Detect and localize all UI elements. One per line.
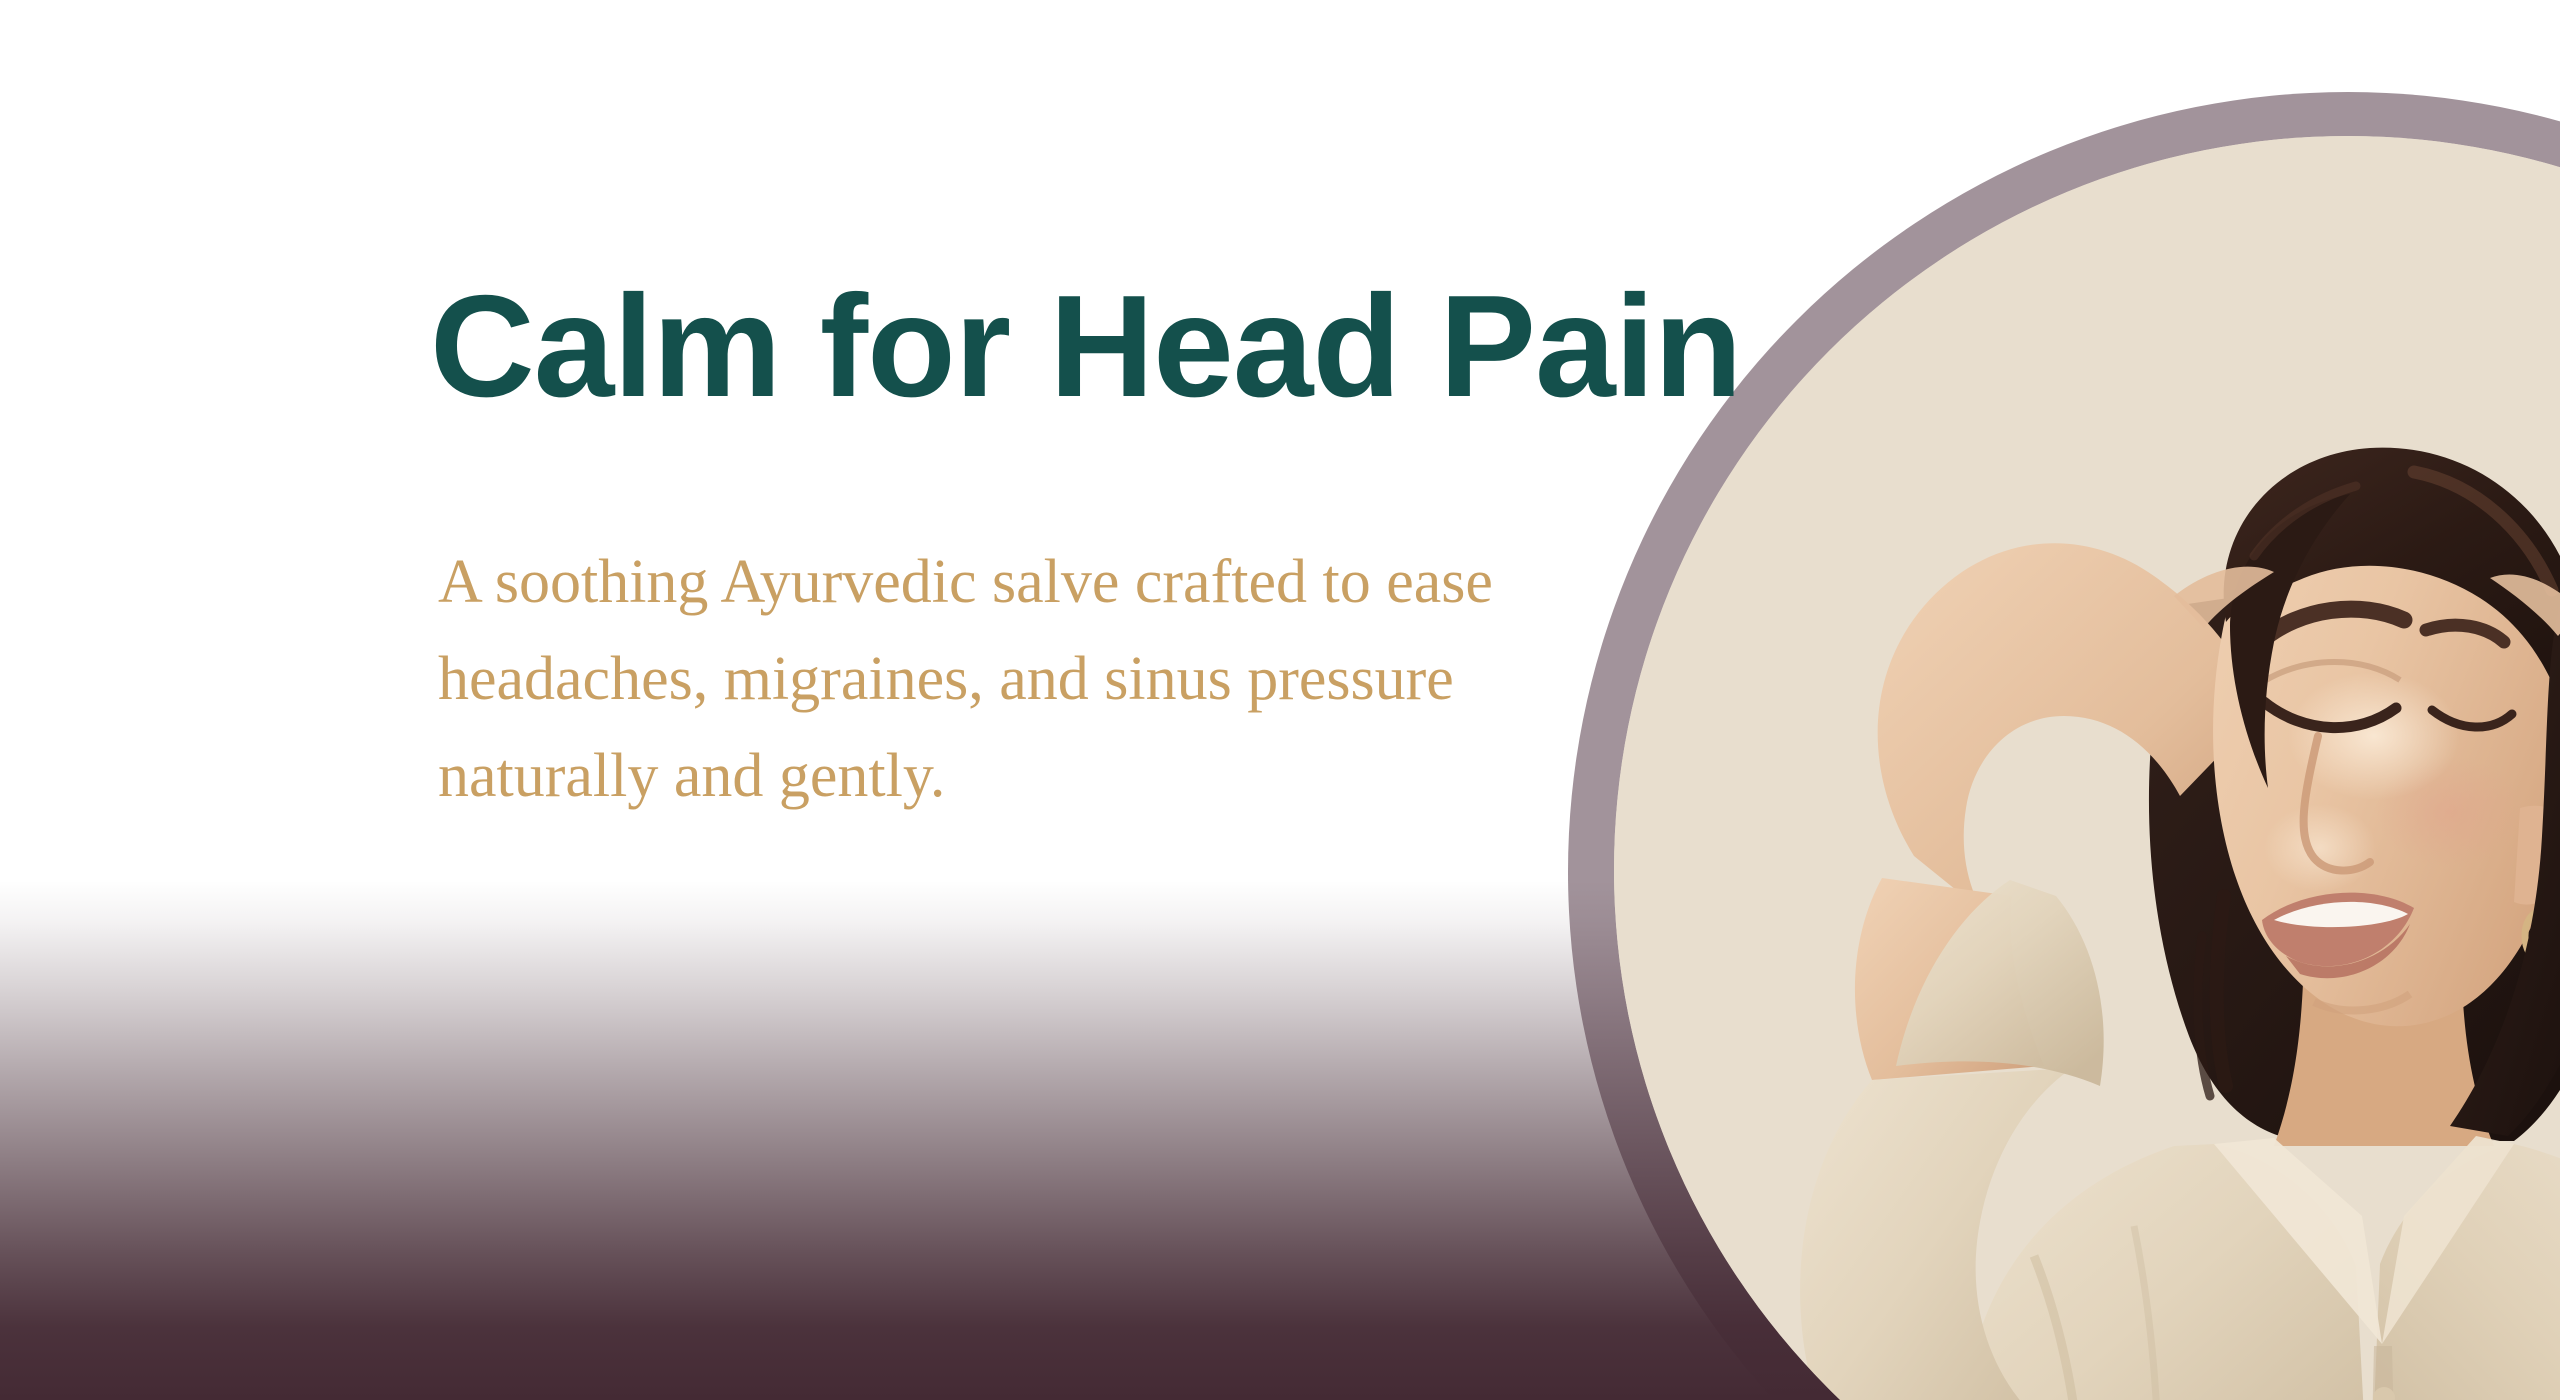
hero-subcopy: A soothing Ayurvedic salve crafted to ea… — [438, 534, 1558, 825]
hero-copy-block: Calm for Head Pain A soothing Ayurvedic … — [430, 270, 1610, 825]
slide-canvas: Calm for Head Pain A soothing Ayurvedic … — [0, 0, 2560, 1400]
page-title: Calm for Head Pain — [430, 270, 1610, 422]
